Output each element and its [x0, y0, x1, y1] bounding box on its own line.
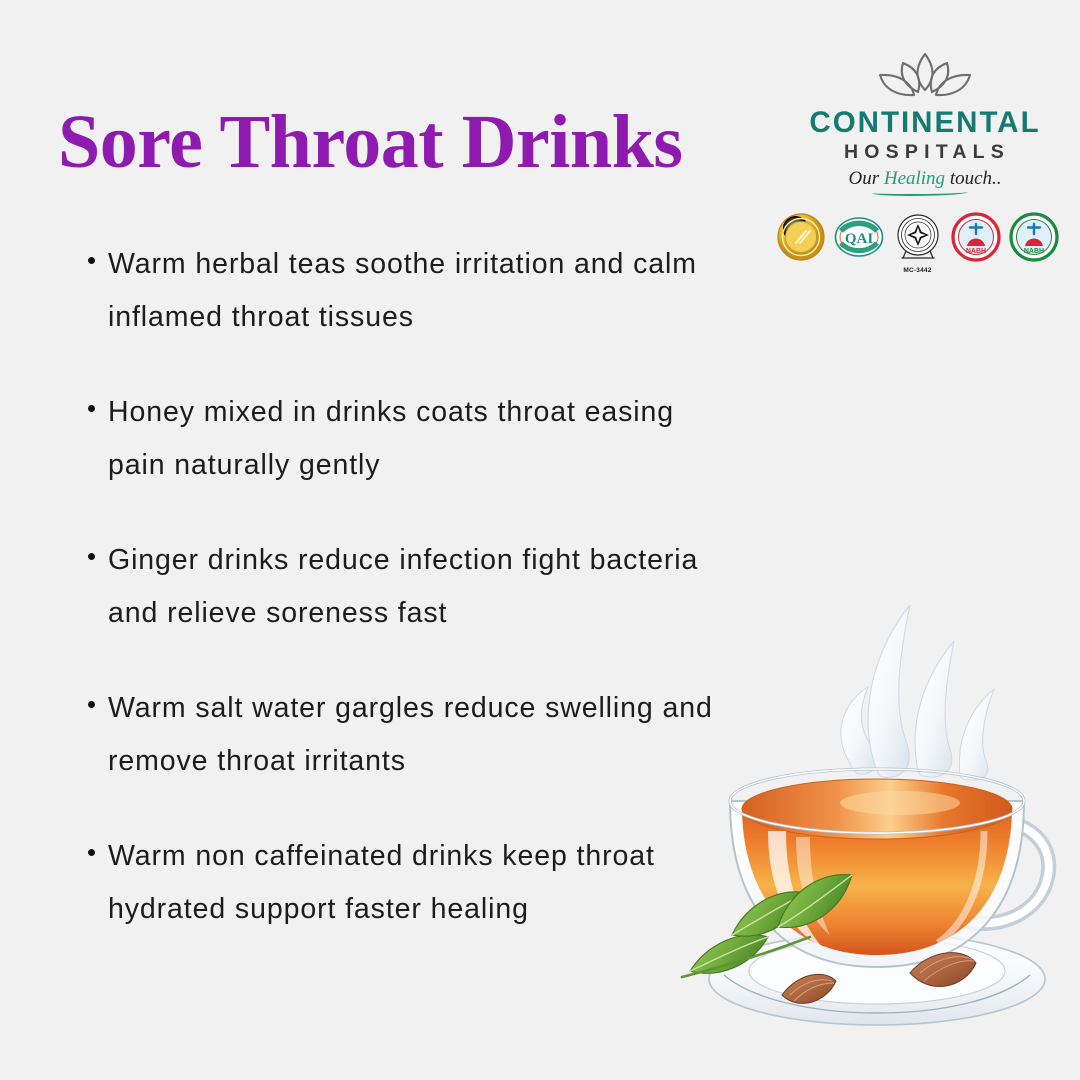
logo-tagline: Our Healing touch..: [800, 168, 1050, 190]
page-title: Sore Throat Drinks: [58, 104, 682, 180]
bullet-dot-icon: [88, 849, 95, 856]
tagline-prefix: Our: [848, 168, 883, 189]
bullet-dot-icon: [88, 257, 95, 264]
bullet-text: Warm non caffeinated drinks keep throat …: [108, 830, 728, 936]
nabh-green-badge: NABH: [1008, 212, 1060, 263]
accreditation-badge-row: QAI MC-3442: [775, 212, 1060, 274]
mc-emblem-badge: MC-3442: [892, 212, 944, 274]
brand-logo: CONTINENTAL HOSPITALS Our Healing touch.…: [800, 48, 1050, 190]
nabh-red-badge: NABH: [950, 212, 1002, 263]
bullet-text: Warm salt water gargles reduce swelling …: [108, 682, 728, 788]
bullet-text: Honey mixed in drinks coats throat easin…: [108, 386, 728, 492]
svg-text:QAI: QAI: [845, 231, 874, 247]
mc-emblem-caption: MC-3442: [892, 267, 944, 274]
steam-swirls: [841, 605, 994, 780]
logo-subtitle: HOSPITALS: [804, 142, 1050, 162]
bullet-dot-icon: [88, 553, 95, 560]
bullet-dot-icon: [88, 405, 95, 412]
lotus-flower-icon: [866, 48, 984, 106]
gold-medallion-badge: [775, 212, 827, 263]
qai-certified-badge: QAI: [833, 212, 885, 263]
glass-teacup-with-tea-illustration: [672, 575, 1080, 1075]
list-item: Warm herbal teas soothe irritation and c…: [88, 238, 748, 344]
bullet-dot-icon: [88, 701, 95, 708]
bullet-text: Warm herbal teas soothe irritation and c…: [108, 238, 728, 344]
bullet-list: Warm herbal teas soothe irritation and c…: [88, 238, 748, 978]
list-item: Honey mixed in drinks coats throat easin…: [88, 386, 748, 492]
bullet-text: Ginger drinks reduce infection fight bac…: [108, 534, 728, 640]
logo-name: CONTINENTAL: [800, 108, 1050, 139]
svg-text:NABH: NABH: [1024, 248, 1044, 255]
poster-canvas: Sore Throat Drinks CONTINENTAL HOSPITALS…: [0, 0, 1080, 1080]
list-item: Warm salt water gargles reduce swelling …: [88, 682, 748, 788]
tagline-highlight: Healing: [884, 168, 945, 189]
glass-cup: [730, 769, 1024, 967]
tagline-underline-swoosh: [872, 189, 968, 196]
list-item: Warm non caffeinated drinks keep throat …: [88, 830, 748, 936]
svg-text:NABH: NABH: [966, 248, 986, 255]
list-item: Ginger drinks reduce infection fight bac…: [88, 534, 748, 640]
tagline-suffix: touch..: [945, 168, 1001, 189]
